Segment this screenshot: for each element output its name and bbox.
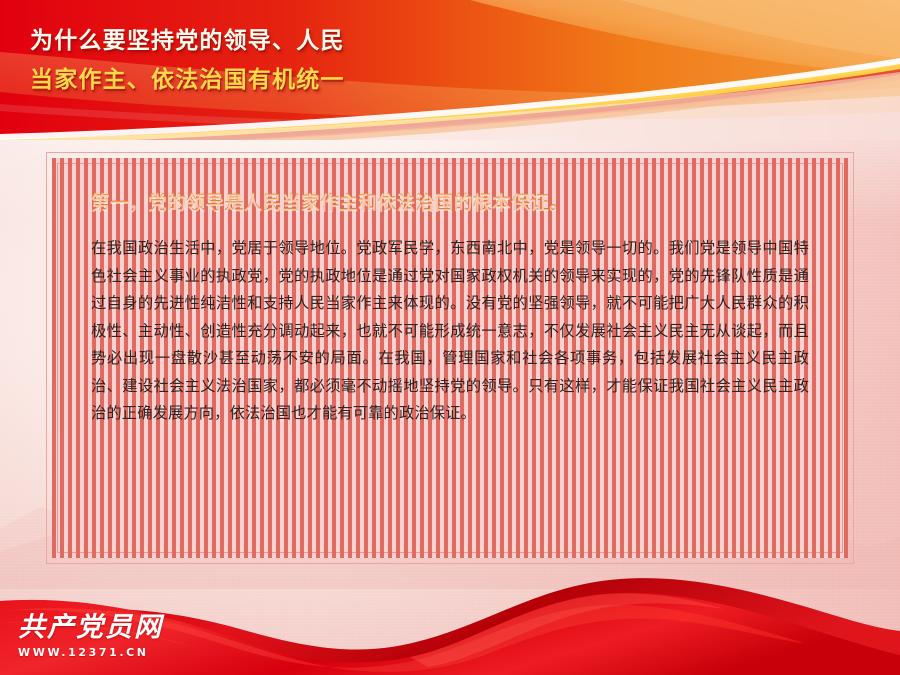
page-title-line-1: 为什么要坚持党的领导、人民 [30, 22, 550, 61]
site-logo-name: 共产党员网 [18, 613, 158, 643]
content-card: 第一，党的领导是人民当家作主和依法治国的根本保证。 在我国政治生活中，党居于领导… [46, 152, 854, 564]
section-heading: 第一，党的领导是人民当家作主和依法治国的根本保证。 [91, 189, 811, 215]
header-banner: 为什么要坚持党的领导、人民 当家作主、依法治国有机统一 [0, 0, 900, 140]
footer-ribbon: 共产党员网 WWW.12371.CN [0, 565, 900, 675]
body-paragraph: 在我国政治生活中，党居于领导地位。党政军民学，东西南北中，党是领导一切的。我们党… [91, 235, 809, 428]
site-logo-url: WWW.12371.CN [18, 646, 158, 659]
page-title-line-2: 当家作主、依法治国有机统一 [30, 61, 550, 100]
site-logo[interactable]: 共产党员网 WWW.12371.CN [18, 613, 158, 659]
poster-canvas: 为什么要坚持党的领导、人民 当家作主、依法治国有机统一 第一，党的领导是人民当家… [0, 0, 900, 675]
content-card-ornamental-border: 第一，党的领导是人民当家作主和依法治国的根本保证。 在我国政治生活中，党居于领导… [52, 158, 848, 558]
page-title: 为什么要坚持党的领导、人民 当家作主、依法治国有机统一 [30, 22, 550, 100]
